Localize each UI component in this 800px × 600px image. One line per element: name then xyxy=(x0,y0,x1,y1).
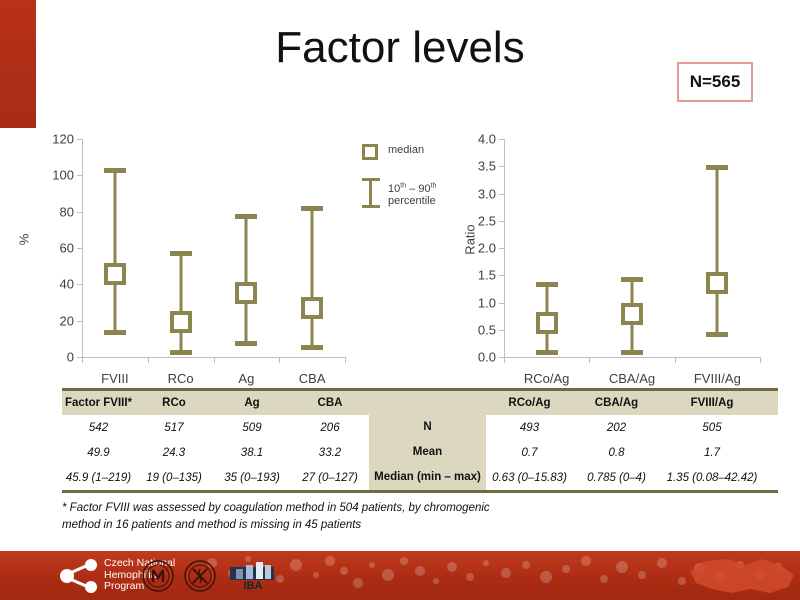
cell-mean-cba-ag: 0.8 xyxy=(573,447,660,459)
summary-table: Factor FVIII* RCo Ag CBA RCo/Ag CBA/Ag F… xyxy=(62,388,778,493)
slide-canvas: Factor levels N=565 % 020406080100120FVI… xyxy=(0,0,800,600)
y-tick-mark xyxy=(499,330,504,331)
footnote: * Factor FVIII was assessed by coagulati… xyxy=(62,500,492,534)
cell-median-fviii: 45.9 (1–219) xyxy=(62,472,135,484)
cell-n-rco-ag: 493 xyxy=(486,422,573,434)
header-ag: Ag xyxy=(213,397,291,409)
cell-median-cba: 27 (0–127) xyxy=(291,472,369,484)
x-category-label: Ag xyxy=(238,371,254,386)
cell-median-ag: 35 (0–193) xyxy=(213,472,291,484)
error-bar-p10-cap xyxy=(301,345,323,350)
median-marker xyxy=(235,282,257,304)
x-tick-mark xyxy=(148,357,149,363)
table-header-row: Factor FVIII* RCo Ag CBA RCo/Ag CBA/Ag F… xyxy=(62,391,778,415)
table-row: 49.9 24.3 38.1 33.2 Mean 0.7 0.8 1.7 xyxy=(62,440,778,465)
y-tick-label: 0 xyxy=(30,350,74,365)
czech-republic-map-icon xyxy=(684,553,800,599)
y-tick-mark xyxy=(77,321,82,322)
cell-mean-rco: 24.3 xyxy=(135,447,213,459)
y-tick-label: 80 xyxy=(30,204,74,219)
y-tick-label: 0.0 xyxy=(452,350,496,365)
y-tick-mark xyxy=(77,175,82,176)
y-tick-label: 0.5 xyxy=(452,322,496,337)
error-bar-p10-cap xyxy=(104,330,126,335)
y-tick-mark xyxy=(499,166,504,167)
cell-median-rco-ag: 0.63 (0–15.83) xyxy=(486,472,573,484)
x-tick-mark xyxy=(82,357,83,363)
y-axis-line xyxy=(504,139,505,357)
header-rco: RCo xyxy=(135,397,213,409)
y-tick-label: 1.0 xyxy=(452,295,496,310)
x-tick-mark xyxy=(345,357,346,363)
x-category-label: RCo/Ag xyxy=(524,371,570,386)
cell-n-fviii-ag: 505 xyxy=(660,422,764,434)
x-tick-mark xyxy=(760,357,761,363)
cell-mean-ag: 38.1 xyxy=(213,447,291,459)
x-category-label: FVIII xyxy=(101,371,128,386)
header-fviii-ag: FVIII/Ag xyxy=(660,397,764,409)
y-tick-label: 3.0 xyxy=(452,186,496,201)
cnhp-line-3: Program xyxy=(104,580,144,592)
x-tick-mark xyxy=(279,357,280,363)
y-tick-mark xyxy=(77,248,82,249)
table-bottom-rule xyxy=(62,490,778,493)
median-marker xyxy=(104,263,126,285)
x-tick-mark xyxy=(214,357,215,363)
legend-median-label: median xyxy=(388,144,424,156)
error-bar-p90-cap xyxy=(170,251,192,256)
cell-n-fviii: 542 xyxy=(62,422,135,434)
error-bar-p90-cap xyxy=(235,214,257,219)
percentile-ibar-icon xyxy=(362,178,380,208)
y-tick-mark xyxy=(499,139,504,140)
y-tick-label: 100 xyxy=(30,168,74,183)
svg-text:IBA: IBA xyxy=(244,580,263,591)
y-axis-line xyxy=(82,139,83,357)
median-marker xyxy=(170,311,192,333)
row-label-mean: Mean xyxy=(369,440,486,465)
y-tick-label: 20 xyxy=(30,313,74,328)
x-category-label: CBA xyxy=(299,371,326,386)
masaryk-university-seal-icon xyxy=(142,560,174,592)
error-bar-p10-cap xyxy=(235,341,257,346)
y-tick-mark xyxy=(499,194,504,195)
row-label-n: N xyxy=(369,415,486,440)
legend-percentile-line2: percentile xyxy=(388,195,436,207)
cell-n-cba-ag: 202 xyxy=(573,422,660,434)
y-tick-label: 40 xyxy=(30,277,74,292)
error-bar-p10-cap xyxy=(621,350,643,355)
y-tick-label: 3.5 xyxy=(452,159,496,174)
y-tick-label: 4.0 xyxy=(452,132,496,147)
median-marker xyxy=(301,297,323,319)
y-tick-mark xyxy=(499,275,504,276)
row-label-median: Median (min – max) xyxy=(369,465,486,490)
x-tick-mark xyxy=(589,357,590,363)
cell-n-rco: 517 xyxy=(135,422,213,434)
institute-seal-icon xyxy=(184,560,216,592)
median-square-icon xyxy=(362,144,378,160)
error-bar-whisker xyxy=(113,170,116,333)
y-tick-label: 2.5 xyxy=(452,213,496,228)
error-bar-p10-cap xyxy=(170,350,192,355)
y-tick-mark xyxy=(499,248,504,249)
x-category-label: FVIII/Ag xyxy=(694,371,741,386)
cell-n-cba: 206 xyxy=(291,422,369,434)
header-rco-ag: RCo/Ag xyxy=(486,397,573,409)
iba-logo-icon: IBA xyxy=(228,561,278,591)
median-marker xyxy=(621,303,643,325)
header-factor-fviii: Factor FVIII* xyxy=(62,397,135,409)
error-bar-p90-cap xyxy=(104,168,126,173)
error-bar-p10-cap xyxy=(706,332,728,337)
cell-mean-rco-ag: 0.7 xyxy=(486,447,573,459)
error-bar-p90-cap xyxy=(621,277,643,282)
error-bar-whisker xyxy=(245,216,248,343)
error-bar-p90-cap xyxy=(706,165,728,170)
header-label-blank xyxy=(369,391,486,416)
x-tick-mark xyxy=(504,357,505,363)
x-category-label: RCo xyxy=(168,371,194,386)
cell-median-fviii-ag: 1.35 (0.08–42.42) xyxy=(660,472,764,484)
error-bar-p90-cap xyxy=(301,206,323,211)
error-bar-whisker xyxy=(179,253,182,353)
y-tick-label: 2.0 xyxy=(452,241,496,256)
cnhp-logo-icon xyxy=(58,559,104,593)
table-row: 542 517 509 206 N 493 202 505 xyxy=(62,415,778,440)
cell-mean-cba: 33.2 xyxy=(291,447,369,459)
cell-mean-fviii-ag: 1.7 xyxy=(660,447,764,459)
y-tick-label: 120 xyxy=(30,132,74,147)
footnote-line-1: * Factor FVIII was assessed by coagulati… xyxy=(62,502,421,514)
y-tick-label: 60 xyxy=(30,241,74,256)
footer-bar: Czech National Hemophilia Program IBA xyxy=(0,551,800,600)
x-tick-mark xyxy=(675,357,676,363)
chart-factor-ratios: Ratio 0.00.51.01.52.02.53.03.54.0RCo/AgC… xyxy=(430,0,800,400)
chart-factor-levels-percent: % 020406080100120FVIIIRCoAgCBA xyxy=(0,0,400,400)
y-tick-mark xyxy=(499,221,504,222)
cell-median-cba-ag: 0.785 (0–4) xyxy=(573,472,660,484)
y-tick-label: 1.5 xyxy=(452,268,496,283)
median-marker xyxy=(536,312,558,334)
header-cba: CBA xyxy=(291,397,369,409)
median-marker xyxy=(706,272,728,294)
error-bar-p10-cap xyxy=(536,350,558,355)
cell-n-ag: 509 xyxy=(213,422,291,434)
y-tick-mark xyxy=(77,284,82,285)
cell-median-rco: 19 (0–135) xyxy=(135,472,213,484)
cell-mean-fviii: 49.9 xyxy=(62,447,135,459)
table-row: 45.9 (1–219) 19 (0–135) 35 (0–193) 27 (0… xyxy=(62,465,778,490)
x-category-label: CBA/Ag xyxy=(609,371,655,386)
x-axis-line xyxy=(504,357,760,358)
y-tick-mark xyxy=(77,139,82,140)
error-bar-p90-cap xyxy=(536,282,558,287)
y-tick-mark xyxy=(77,212,82,213)
error-bar-whisker xyxy=(716,167,719,334)
error-bar-whisker xyxy=(311,208,314,347)
y-tick-mark xyxy=(499,303,504,304)
header-cba-ag: CBA/Ag xyxy=(573,397,660,409)
